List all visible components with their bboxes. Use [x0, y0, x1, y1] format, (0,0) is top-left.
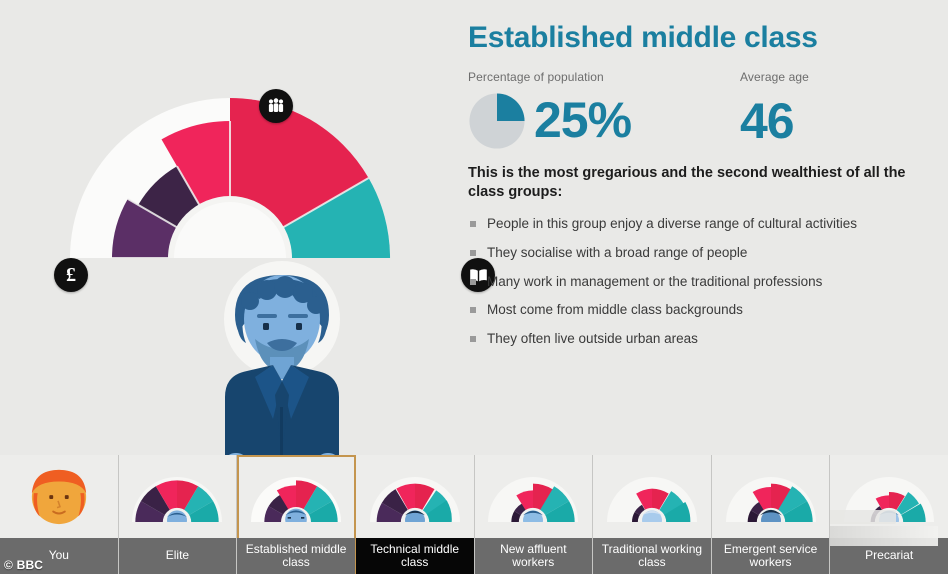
bullet-icon [470, 279, 476, 285]
mini-gauge-icon [602, 466, 702, 528]
carousel-tile-traditional-working-class[interactable]: Traditional working class [593, 455, 712, 574]
carousel-tile-elite[interactable]: Elite [119, 455, 238, 574]
social-capital-icon[interactable] [259, 89, 293, 123]
average-age-value: 46 [740, 92, 920, 146]
gauge-thumb [593, 455, 711, 538]
gauge-panel: £ [0, 0, 460, 455]
list-item: Most come from middle class backgrounds [468, 302, 938, 319]
class-carousel: You © BBC Elite [0, 455, 948, 574]
percentage-label: Percentage of population [468, 70, 740, 84]
capital-gauge: £ [52, 62, 408, 418]
you-avatar-icon [28, 466, 90, 528]
percentage-stat: Percentage of population 25% [468, 70, 740, 150]
page-title: Established middle class [468, 22, 938, 54]
mini-gauge-icon [721, 466, 821, 528]
pound-glyph: £ [66, 265, 76, 285]
average-age-label: Average age [740, 70, 920, 84]
gauge-thumb [356, 455, 474, 538]
bullet-text: They socialise with a broad range of peo… [487, 245, 747, 260]
carousel-tile-new-affluent-workers[interactable]: New affluent workers [475, 455, 594, 574]
population-pie-chart [468, 92, 526, 150]
bullet-text: Most come from middle class backgrounds [487, 302, 743, 317]
carousel-tile-technical-middle-class[interactable]: Technical middle class [356, 455, 475, 574]
image-watermark-artifact-2 [830, 510, 896, 524]
bullet-icon [470, 336, 476, 342]
bbc-watermark: © BBC [4, 558, 43, 572]
stats-row: Percentage of population 25% Average age… [468, 70, 938, 150]
carousel-label: Established middle class [237, 538, 355, 574]
bullet-icon [470, 221, 476, 227]
average-age-stat: Average age 46 [740, 70, 920, 146]
carousel-tile-emergent-service-workers[interactable]: Emergent service workers [712, 455, 831, 574]
carousel-label: New affluent workers [475, 538, 593, 574]
gauge-thumb [475, 455, 593, 538]
carousel-tile-established-middle-class[interactable]: Established middle class [237, 455, 356, 574]
list-item: Many work in management or the tradition… [468, 274, 938, 291]
you-avatar-thumb [0, 455, 118, 538]
image-watermark-artifact [830, 526, 938, 546]
carousel-tile-you[interactable]: You © BBC [0, 455, 119, 574]
carousel-label: Emergent service workers [712, 538, 830, 574]
mini-gauge-icon [246, 466, 346, 528]
bullet-text: Many work in management or the tradition… [487, 274, 822, 289]
bullet-icon [470, 307, 476, 313]
mini-gauge-icon [365, 466, 465, 528]
description-lead: This is the most gregarious and the seco… [468, 164, 928, 202]
carousel-tile-precariat[interactable]: Precariat [830, 455, 948, 574]
bullet-icon [470, 250, 476, 256]
percentage-value: 25% [534, 97, 631, 145]
carousel-label: Elite [119, 538, 237, 574]
carousel-label: Traditional working class [593, 538, 711, 574]
list-item: They socialise with a broad range of peo… [468, 245, 938, 262]
description-bullet-list: People in this group enjoy a diverse ran… [468, 216, 938, 348]
economic-capital-icon[interactable]: £ [54, 258, 88, 292]
gauge-thumb [237, 455, 355, 538]
list-item: People in this group enjoy a diverse ran… [468, 216, 938, 233]
avatar [197, 257, 367, 487]
class-info-panel: Established middle class Percentage of p… [468, 22, 938, 360]
mini-gauge-icon [127, 466, 227, 528]
mini-gauge-icon [483, 466, 583, 528]
gauge-thumb [712, 455, 830, 538]
bbc-class-calculator: £ Established middle class Percentage of… [0, 0, 948, 574]
list-item: They often live outside urban areas [468, 331, 938, 348]
carousel-label: Technical middle class [356, 538, 474, 574]
gauge-thumb [119, 455, 237, 538]
bullet-text: They often live outside urban areas [487, 331, 698, 346]
bullet-text: People in this group enjoy a diverse ran… [487, 216, 857, 231]
